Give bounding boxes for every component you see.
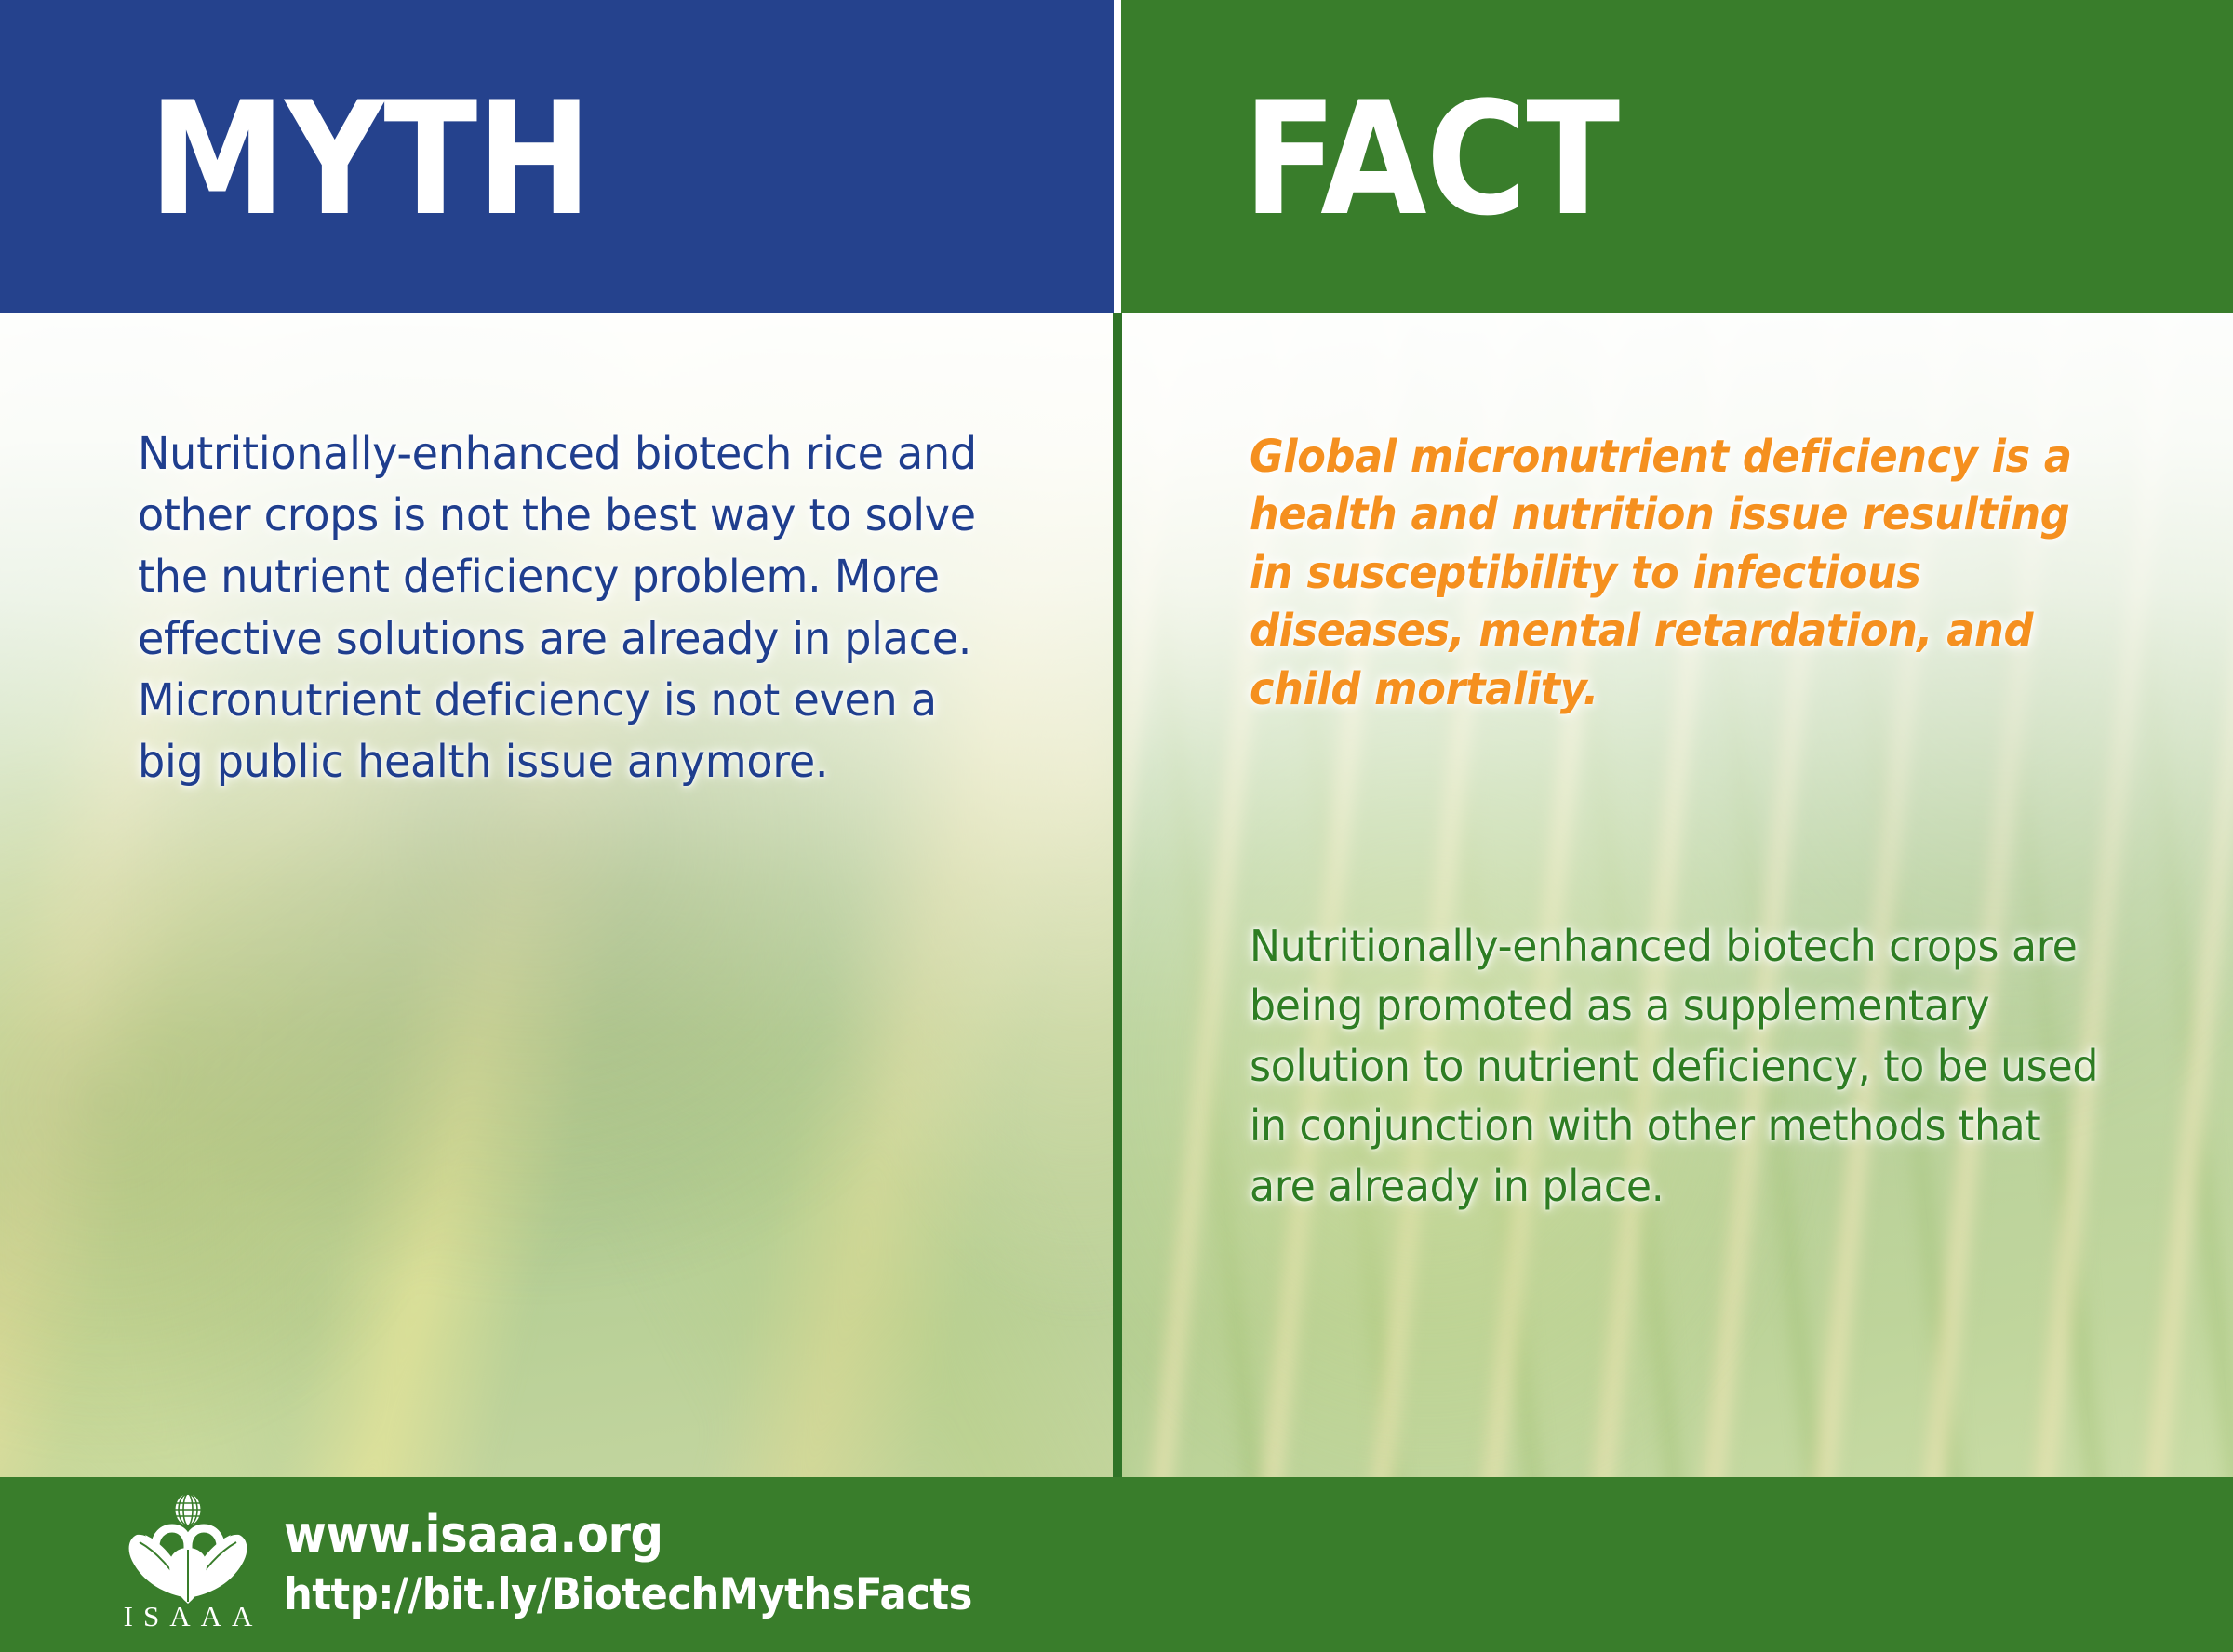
fact-title: FACT — [1243, 81, 1619, 237]
fact-body-text: Nutritionally-enhanced biotech crops are… — [1250, 916, 2107, 1216]
isaaa-globe-leaf-logo-icon — [112, 1494, 264, 1604]
isaaa-logo: ISAAA — [104, 1494, 272, 1641]
fact-lead-text: Global micronutrient deficiency is a hea… — [1250, 428, 2080, 718]
myth-body-text: Nutritionally-enhanced biotech rice and … — [138, 423, 986, 793]
short-link-url[interactable]: http://bit.ly/BiotechMythsFacts — [284, 1568, 972, 1621]
footer-bar: ISAAA www.isaaa.org http://bit.ly/Biotec… — [0, 1477, 2233, 1652]
panel-divider — [1113, 313, 1122, 1477]
myth-header-bar: MYTH — [0, 0, 1114, 313]
fact-header-bar: FACT — [1121, 0, 2233, 313]
website-url[interactable]: www.isaaa.org — [284, 1505, 972, 1565]
infographic-poster: MYTH FACT Nutritionally-enhanced biotech… — [0, 0, 2233, 1652]
isaaa-wordmark: ISAAA — [104, 1602, 272, 1631]
url-block: www.isaaa.org http://bit.ly/BiotechMyths… — [284, 1505, 1032, 1621]
myth-title: MYTH — [149, 81, 591, 237]
